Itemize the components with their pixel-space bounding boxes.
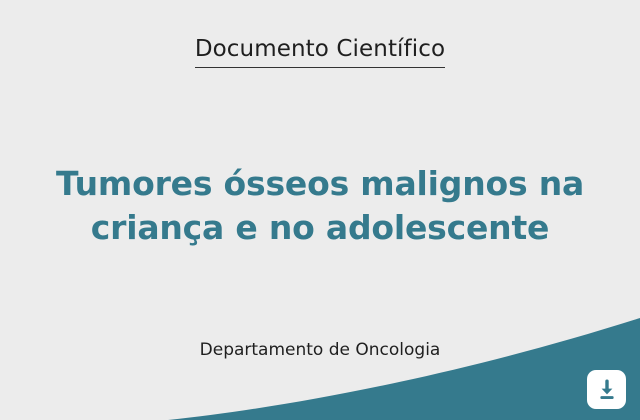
- department-label: Departamento de Oncologia: [0, 338, 640, 362]
- download-button[interactable]: [587, 370, 626, 409]
- page-title-line-1: Tumores ósseos malignos na: [40, 162, 600, 206]
- document-kicker: Documento Científico: [0, 34, 640, 68]
- document-kicker-label: Documento Científico: [195, 34, 445, 68]
- page-title: Tumores ósseos malignos na criança e no …: [40, 162, 600, 250]
- document-cover-card: Documento Científico Tumores ósseos mali…: [0, 0, 640, 420]
- download-icon: [595, 378, 619, 402]
- page-title-line-2: criança e no adolescente: [40, 206, 600, 250]
